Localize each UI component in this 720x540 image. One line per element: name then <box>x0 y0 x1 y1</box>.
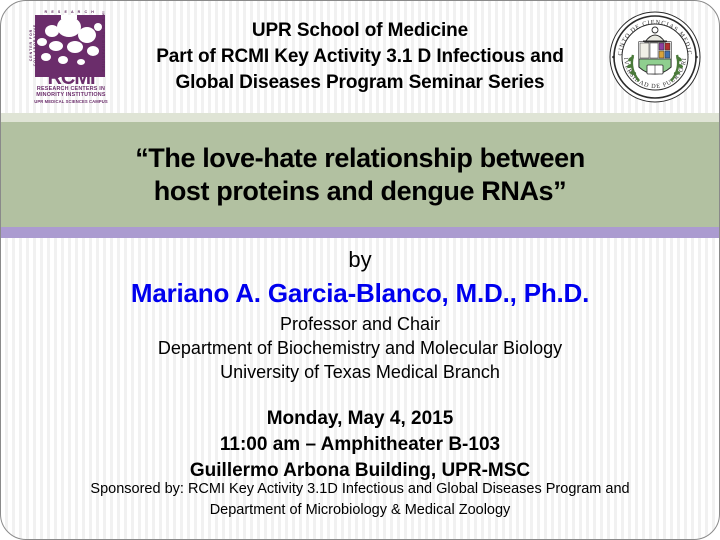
affiliation-line-2: Department of Biochemistry and Molecular… <box>1 336 719 360</box>
event-date: Monday, May 4, 2015 <box>1 406 719 432</box>
header-title-line-2: Part of RCMI Key Activity 3.1 D Infectio… <box>156 44 564 70</box>
university-seal-icon: RECINTO DE CIENCIAS MEDICAS UNIVERSIDAD … <box>609 11 701 103</box>
header-title-line-1: UPR School of Medicine <box>156 18 564 44</box>
talk-title: “The love-hate relationship between host… <box>121 142 599 208</box>
speaker-name: Mariano A. Garcia-Blanco, M.D., Ph.D. <box>1 277 719 309</box>
talk-title-band: “The love-hate relationship between host… <box>1 122 719 227</box>
sponsor-line-1: Sponsored by: RCMI Key Activity 3.1D Inf… <box>35 479 685 500</box>
rcmi-logo: R E S E A R C H CENTER FOR COLLABORATIVE… <box>23 10 115 106</box>
title-band-accent <box>1 113 719 122</box>
poster-body: by Mariano A. Garcia-Blanco, M.D., Ph.D.… <box>1 246 719 484</box>
talk-title-line-2: host proteins and dengue RNAs” <box>135 175 585 208</box>
rcmi-subtitle-line-2: MINORITY INSTITUTIONS <box>27 92 115 98</box>
rcmi-subtitle-line-3: UPR MEDICAL SCIENCES CAMPUS <box>27 99 115 104</box>
rcmi-right-text: IN HEALTH DISPARITIES <box>101 9 105 75</box>
rcmi-wordmark: RCMI <box>34 68 108 88</box>
event-time-room: 11:00 am – Amphitheater B-103 <box>1 432 719 458</box>
affiliation-line-3: University of Texas Medical Branch <box>1 360 719 384</box>
header-title-line-3: Global Diseases Program Seminar Series <box>156 70 564 96</box>
upr-seal-logo: RECINTO DE CIENCIAS MEDICAS UNIVERSIDAD … <box>609 11 701 103</box>
by-label: by <box>1 246 719 274</box>
event-details: Monday, May 4, 2015 11:00 am – Amphithea… <box>1 406 719 484</box>
poster-header: R E S E A R C H CENTER FOR COLLABORATIVE… <box>1 1 719 113</box>
speaker-affiliation: Professor and Chair Department of Bioche… <box>1 312 719 384</box>
talk-title-line-1: “The love-hate relationship between <box>135 142 585 175</box>
header-title: UPR School of Medicine Part of RCMI Key … <box>44 18 676 96</box>
sponsor-line-2: Department of Microbiology & Medical Zoo… <box>35 500 685 521</box>
affiliation-line-1: Professor and Chair <box>1 312 719 336</box>
sponsor-note: Sponsored by: RCMI Key Activity 3.1D Inf… <box>1 479 719 521</box>
rcmi-top-text: R E S E A R C H <box>39 10 101 14</box>
seminar-poster: R E S E A R C H CENTER FOR COLLABORATIVE… <box>0 0 720 540</box>
purple-divider <box>1 227 719 238</box>
